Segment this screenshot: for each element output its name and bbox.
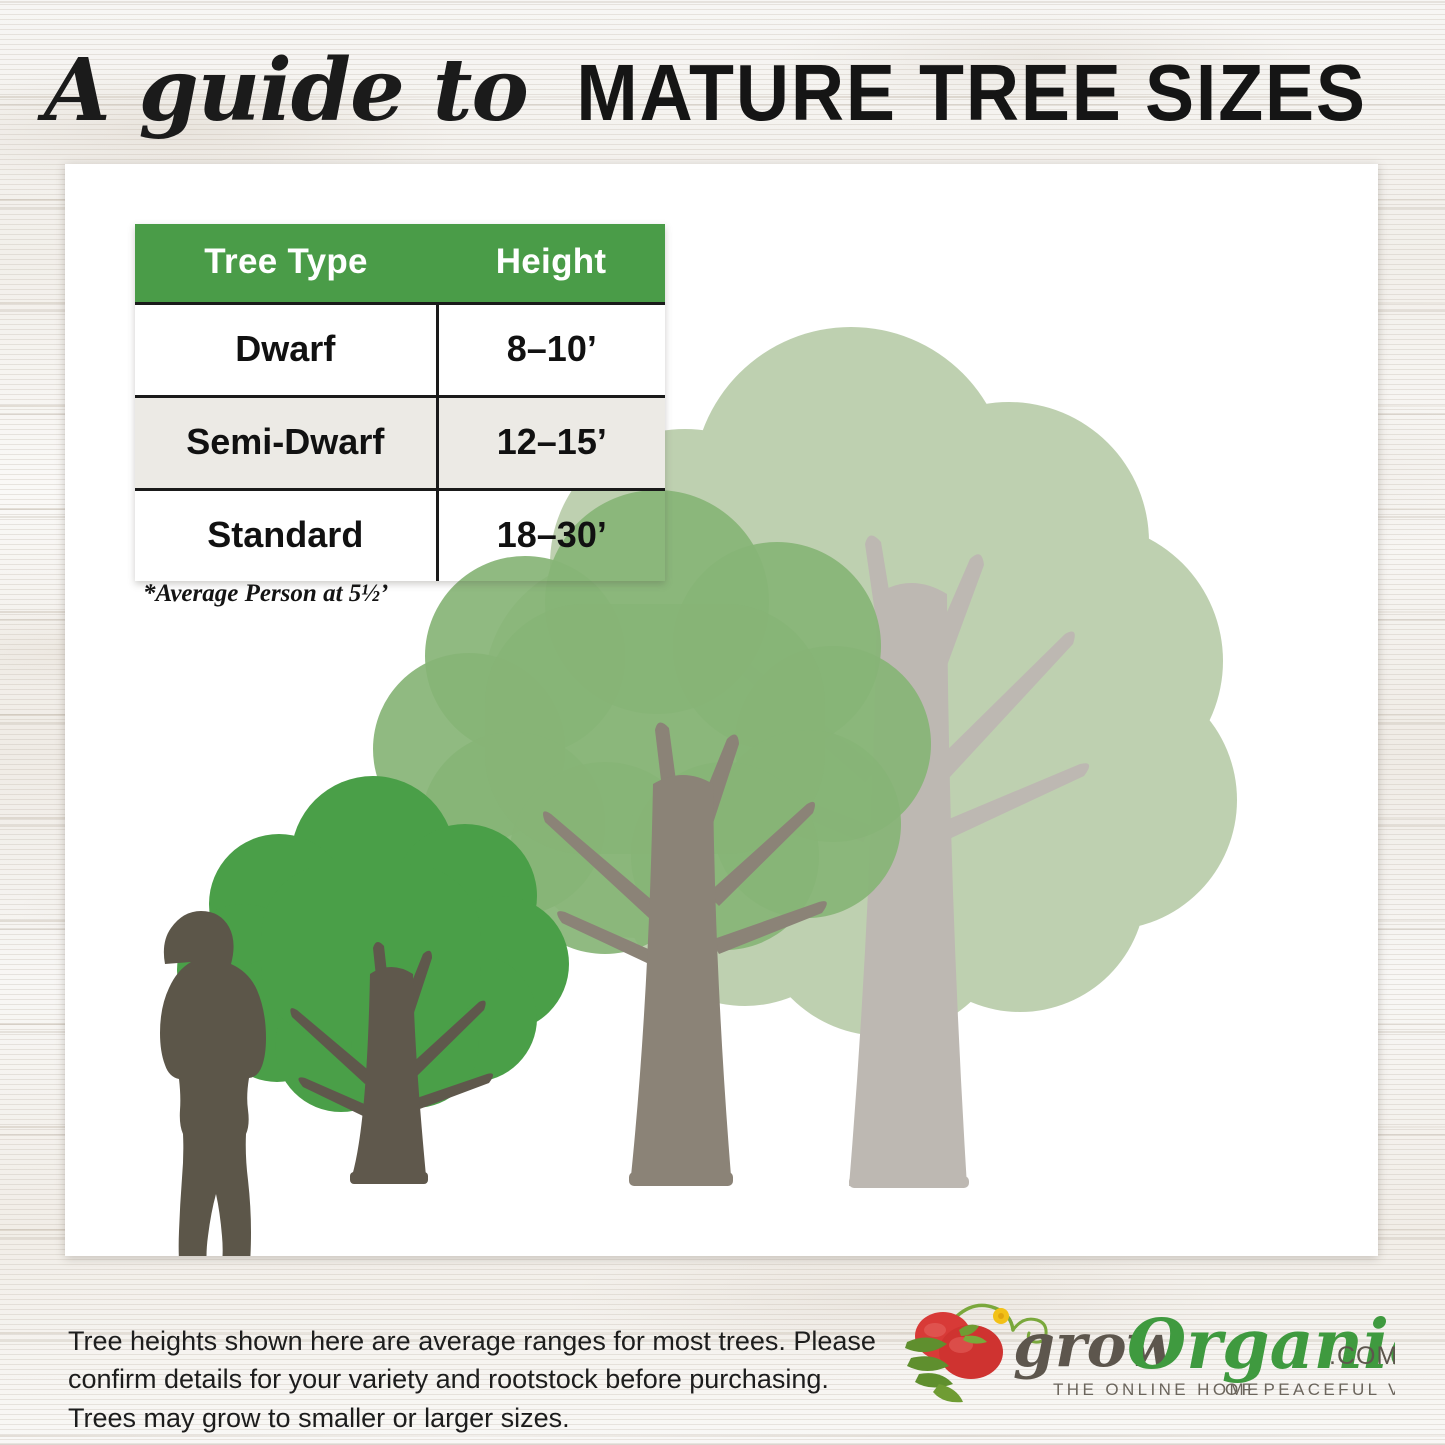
cell-tree-type-dwarf: Dwarf [135, 304, 437, 397]
table-row: Semi-Dwarf 12–15’ [135, 397, 665, 490]
logo-tld: .COM [1329, 1342, 1395, 1370]
table-row: Dwarf 8–10’ [135, 304, 665, 397]
cell-tree-type-standard: Standard [135, 490, 437, 582]
column-header-tree-type: Tree Type [135, 224, 437, 304]
cell-height-semi-dwarf: 12–15’ [437, 397, 665, 490]
page-title-caps: MATURE TREE SIZES [576, 53, 1366, 133]
disclaimer-text: Tree heights shown here are average rang… [68, 1322, 878, 1437]
cell-tree-type-semi-dwarf: Semi-Dwarf [135, 397, 437, 490]
page-title: A guide toMATURE TREE SIZES [0, 48, 1445, 134]
grow-organic-logo[interactable]: grow Organic .COM THE ONLINE HOME OF PEA… [905, 1296, 1395, 1418]
table-footnote: *Average Person at 5½’ [143, 580, 388, 608]
page-title-script: A guide to [44, 40, 528, 141]
cell-height-standard: 18–30’ [437, 490, 665, 582]
infographic-card: Tree Type Height Dwarf 8–10’ Semi-Dwarf … [65, 164, 1378, 1256]
logo-tagline-right: OF PEACEFUL VALLEY [1225, 1380, 1395, 1399]
table-row: Standard 18–30’ [135, 490, 665, 582]
tree-size-table: Tree Type Height Dwarf 8–10’ Semi-Dwarf … [135, 224, 665, 581]
column-header-height: Height [437, 224, 665, 304]
cell-height-dwarf: 8–10’ [437, 304, 665, 397]
table-header-row: Tree Type Height [135, 224, 665, 304]
